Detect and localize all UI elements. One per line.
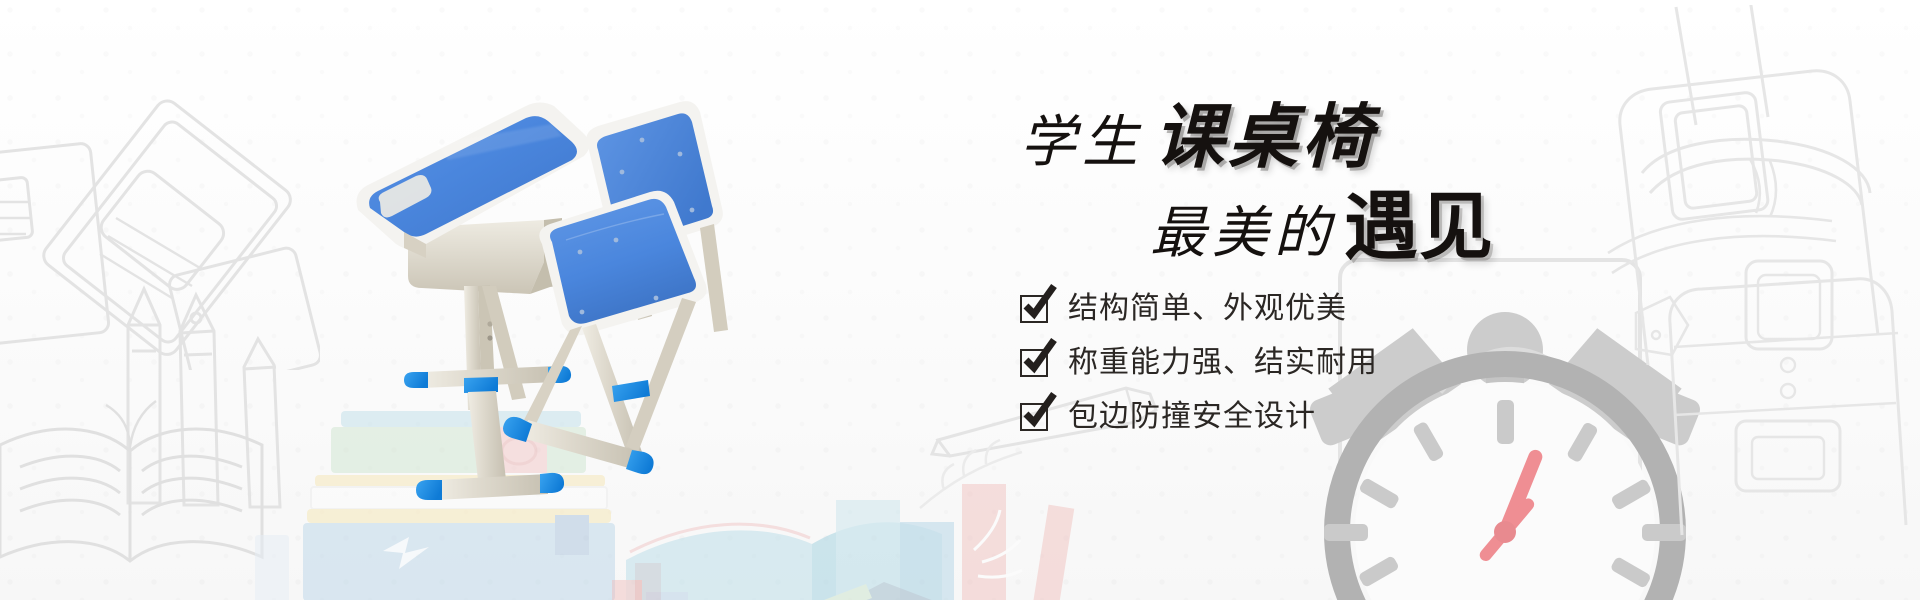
feature-text: 结构简单、外观优美 [1068, 294, 1347, 324]
headline-line2-prefix: 最美的 [1150, 203, 1344, 265]
headline-line2-emphasis: 遇见 [1344, 185, 1494, 268]
promo-banner: 学生课桌椅 最美的遇见 结构简单、外观优美 [0, 0, 1920, 600]
headline-line-2: 最美的遇见 [1150, 190, 1494, 264]
feature-item: 称重能力强、结实耐用 [1020, 346, 1378, 380]
headline-line1-prefix: 学生 [1020, 112, 1154, 174]
headline-group: 学生课桌椅 最美的遇见 [1010, 100, 1630, 300]
feature-text: 称重能力强、结实耐用 [1068, 348, 1378, 378]
background-pattern [0, 0, 1920, 600]
product-photo [330, 80, 810, 520]
marketing-copy: 学生课桌椅 最美的遇见 结构简单、外观优美 [1010, 100, 1630, 300]
check-mark-icon [1020, 295, 1048, 323]
feature-item: 结构简单、外观优美 [1020, 292, 1378, 326]
headline-line1-emphasis: 课桌椅 [1154, 100, 1376, 177]
feature-list: 结构简单、外观优美 称重能力强、结实耐用 包边防撞安全设计 [1020, 292, 1378, 434]
check-mark-icon [1020, 349, 1048, 377]
check-mark-icon [1020, 403, 1048, 431]
headline-line-1: 学生课桌椅 [1020, 104, 1376, 174]
feature-text: 包边防撞安全设计 [1068, 402, 1316, 432]
feature-item: 包边防撞安全设计 [1020, 400, 1378, 434]
